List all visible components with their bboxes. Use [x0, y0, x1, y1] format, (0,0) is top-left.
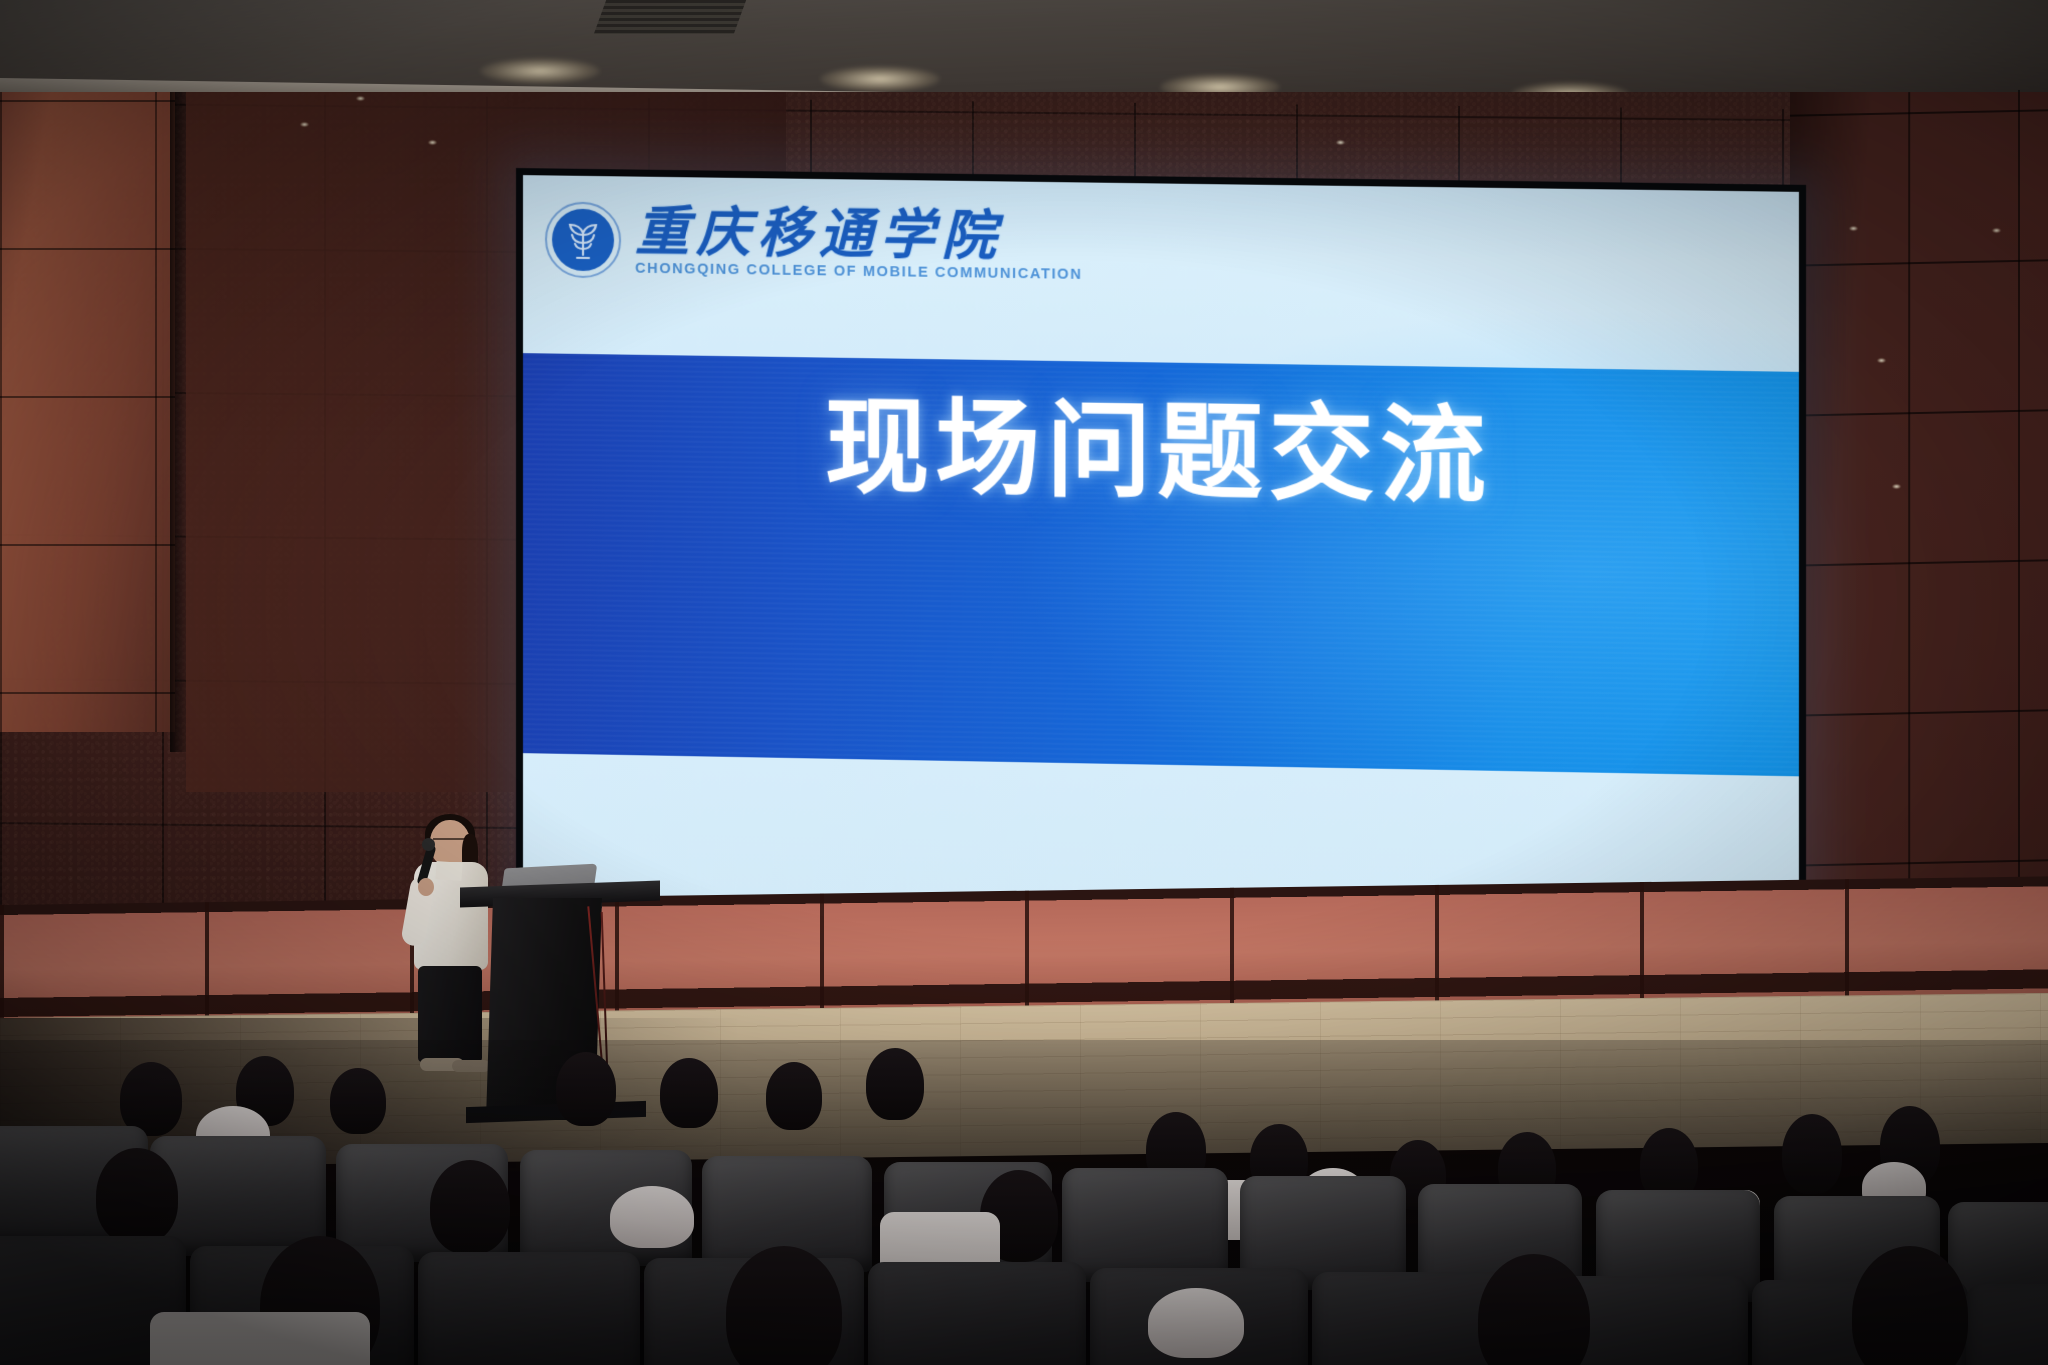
slide-title: 现场问题交流: [523, 391, 1799, 515]
audience-head: [330, 1068, 386, 1134]
audience-head: [430, 1160, 510, 1254]
audience-head: [766, 1062, 822, 1130]
audience-head: [866, 1048, 924, 1120]
wall-highlight: [356, 96, 365, 101]
wall-highlight: [1877, 358, 1886, 363]
audience-cap: [610, 1186, 694, 1248]
air-vent-icon: [594, 0, 746, 34]
auditorium-scene: 重庆移通学院 CHONGQING COLLEGE OF MOBILE COMMU…: [0, 0, 2048, 1365]
glasses-icon: [433, 838, 465, 848]
microphone-head-icon: [422, 838, 435, 851]
left-wall-lit-panel: [0, 92, 175, 732]
wall-highlight: [1849, 226, 1858, 231]
wall-highlight: [1992, 228, 2001, 233]
ceiling-light: [480, 58, 600, 84]
school-seal-icon: [545, 201, 621, 278]
wall-highlight: [1336, 140, 1345, 145]
audience-head: [556, 1052, 616, 1126]
audience-seat: [868, 1262, 1086, 1365]
ceiling: [0, 0, 2048, 96]
audience-seat: [1062, 1168, 1228, 1282]
wall-highlight: [1892, 484, 1901, 489]
audience-area: [0, 1040, 2048, 1365]
presenter-collar: [435, 861, 462, 881]
audience-head: [96, 1148, 178, 1244]
slide-surface: 重庆移通学院 CHONGQING COLLEGE OF MOBILE COMMU…: [523, 175, 1799, 931]
audience-cap: [1148, 1288, 1244, 1358]
audience-head: [660, 1058, 718, 1128]
school-name-cn: 重庆移通学院: [635, 205, 1082, 265]
audience-shirt: [150, 1312, 370, 1365]
projection-screen[interactable]: 重庆移通学院 CHONGQING COLLEGE OF MOBILE COMMU…: [516, 168, 1806, 938]
school-logo: 重庆移通学院 CHONGQING COLLEGE OF MOBILE COMMU…: [545, 201, 1082, 285]
right-wall: [1790, 92, 2048, 972]
audience-seat: [418, 1252, 640, 1365]
audience-head: [1782, 1114, 1842, 1194]
audience-head: [120, 1062, 182, 1136]
wall-highlight: [300, 122, 309, 127]
audience-seat: [1966, 1284, 2048, 1365]
wall-highlight: [428, 140, 437, 145]
ceiling-light: [820, 66, 940, 92]
presenter-hand: [418, 878, 434, 896]
wall-corner-shadow: [170, 92, 186, 752]
